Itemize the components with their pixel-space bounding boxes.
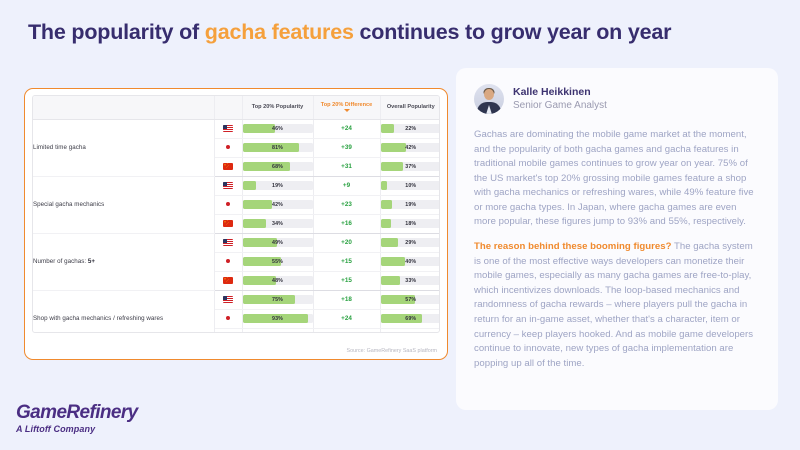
bar-top20-value: 93% (243, 314, 313, 323)
table-row: Number of gachas: 5+49%+2029% (33, 233, 440, 252)
bar-overall: 37% (381, 162, 441, 171)
bar-top20: 19% (243, 181, 313, 190)
cell-top20-difference: +24 (313, 309, 380, 328)
row-feature-label: Limited time gacha (33, 119, 214, 176)
flag-china-icon (223, 220, 233, 227)
table-row: Limited time gacha46%+2422% (33, 119, 440, 138)
bar-top20: 68% (243, 162, 313, 171)
bar-top20-value: 55% (243, 257, 313, 266)
cell-top20-popularity: 49% (242, 233, 313, 252)
cell-top20-popularity: 19% (242, 176, 313, 195)
cell-overall-popularity: 29% (380, 233, 440, 252)
author-role: Senior Game Analyst (513, 99, 607, 112)
cell-overall-popularity: 42% (380, 138, 440, 157)
cell-top20-difference: +39 (313, 138, 380, 157)
cell-top20-popularity: 46% (242, 119, 313, 138)
bar-top20-value: 46% (243, 124, 313, 133)
bar-overall-value: 33% (381, 276, 441, 285)
bar-top20: 42% (243, 200, 313, 209)
cell-overall-popularity: 37% (380, 157, 440, 176)
col-market (214, 96, 242, 119)
brand-logo: GameRefinery A Liftoff Company (16, 403, 138, 434)
cell-top20-difference: +20 (313, 233, 380, 252)
row-market-flag (214, 195, 242, 214)
brand-logo-tagline: A Liftoff Company (16, 424, 138, 434)
cell-overall-popularity: 73% (380, 328, 440, 333)
page-title: The popularity of gacha features continu… (28, 20, 772, 45)
bar-overall-value: 19% (381, 200, 441, 209)
cell-top20-difference: +31 (313, 157, 380, 176)
cell-top20-difference: +15 (313, 252, 380, 271)
row-market-flag (214, 309, 242, 328)
flag-china-icon (223, 163, 233, 170)
row-feature-label: Shop with gacha mechanics / refreshing w… (33, 290, 214, 333)
bar-top20-value: 68% (243, 162, 313, 171)
bar-overall-value: 29% (381, 238, 441, 247)
row-market-flag (214, 328, 242, 333)
table-row: Shop with gacha mechanics / refreshing w… (33, 290, 440, 309)
bar-top20: 81% (243, 143, 313, 152)
cell-overall-popularity: 57% (380, 290, 440, 309)
bar-overall-value: 37% (381, 162, 441, 171)
row-market-flag (214, 176, 242, 195)
flag-japan-icon (223, 144, 233, 151)
flag-japan-icon (223, 315, 233, 322)
cell-top20-popularity: 94% (242, 328, 313, 333)
quote-paragraph-2: The reason behind these booming figures?… (474, 240, 758, 371)
bar-top20-value: 34% (243, 219, 313, 228)
cell-top20-popularity: 42% (242, 195, 313, 214)
bar-top20: 46% (243, 124, 313, 133)
row-market-flag (214, 157, 242, 176)
cell-overall-popularity: 69% (380, 309, 440, 328)
cell-top20-popularity: 81% (242, 138, 313, 157)
cell-top20-popularity: 68% (242, 157, 313, 176)
col-overall-popularity[interactable]: Overall Popularity (380, 96, 440, 119)
bar-overall-value: 69% (381, 314, 441, 323)
row-feature-label: Number of gachas: 5+ (33, 233, 214, 290)
bar-top20-value: 81% (243, 143, 313, 152)
bar-overall: 19% (381, 200, 441, 209)
bar-overall-value: 22% (381, 124, 441, 133)
slide-root: The popularity of gacha features continu… (0, 0, 800, 450)
flag-us-icon (223, 239, 233, 246)
bar-top20-value: 49% (243, 238, 313, 247)
feature-popularity-table: Top 20% Popularity Top 20% Difference Ov… (32, 95, 440, 333)
bar-top20-value: 42% (243, 200, 313, 209)
bar-overall-value: 40% (381, 257, 441, 266)
col-top20-difference-label: Top 20% Difference (321, 102, 373, 108)
avatar (474, 84, 504, 114)
row-market-flag (214, 271, 242, 290)
table-row: Special gacha mechanics19%+910% (33, 176, 440, 195)
cell-top20-difference: +18 (313, 290, 380, 309)
cell-top20-popularity: 48% (242, 271, 313, 290)
sort-descending-icon (344, 109, 350, 112)
bar-overall: 18% (381, 219, 441, 228)
bar-overall: 69% (381, 314, 441, 323)
cell-top20-difference: +23 (313, 195, 380, 214)
cell-overall-popularity: 40% (380, 252, 440, 271)
row-market-flag (214, 214, 242, 233)
flag-us-icon (223, 182, 233, 189)
quote-body: Gachas are dominating the mobile game ma… (474, 128, 758, 371)
bar-top20-value: 75% (243, 295, 313, 304)
analyst-quote-card: Kalle Heikkinen Senior Game Analyst Gach… (456, 68, 778, 410)
cell-top20-difference: +24 (313, 119, 380, 138)
cell-overall-popularity: 19% (380, 195, 440, 214)
row-market-flag (214, 290, 242, 309)
col-top20-difference[interactable]: Top 20% Difference (313, 96, 380, 119)
cell-top20-difference: +9 (313, 176, 380, 195)
cell-top20-popularity: 75% (242, 290, 313, 309)
row-market-flag (214, 138, 242, 157)
page-title-after: continues to grow year on year (354, 20, 672, 44)
table-body: Limited time gacha46%+2422%81%+3942%68%+… (33, 119, 440, 333)
flag-japan-icon (223, 258, 233, 265)
cell-top20-popularity: 34% (242, 214, 313, 233)
bar-top20-value: 19% (243, 181, 313, 190)
flag-japan-icon (223, 201, 233, 208)
cell-top20-difference: +16 (313, 214, 380, 233)
row-market-flag (214, 233, 242, 252)
bar-overall: 57% (381, 295, 441, 304)
row-feature-label: Special gacha mechanics (33, 176, 214, 233)
quote-lead-in: The reason behind these booming figures? (474, 241, 672, 252)
chart-source: Source: GameRefinery SaaS platform (347, 348, 437, 354)
bar-top20: 48% (243, 276, 313, 285)
quote-paragraph-1: Gachas are dominating the mobile game ma… (474, 128, 758, 230)
bar-overall-value: 57% (381, 295, 441, 304)
bar-top20-value: 48% (243, 276, 313, 285)
page-title-highlight: gacha features (205, 20, 354, 44)
row-market-flag (214, 119, 242, 138)
cell-overall-popularity: 33% (380, 271, 440, 290)
flag-us-icon (223, 125, 233, 132)
bar-overall: 29% (381, 238, 441, 247)
cell-overall-popularity: 10% (380, 176, 440, 195)
bar-top20: 49% (243, 238, 313, 247)
bar-overall: 33% (381, 276, 441, 285)
bar-overall: 22% (381, 124, 441, 133)
bar-overall: 42% (381, 143, 441, 152)
bar-overall-value: 10% (381, 181, 441, 190)
bar-top20: 34% (243, 219, 313, 228)
page-title-before: The popularity of (28, 20, 205, 44)
bar-overall-value: 18% (381, 219, 441, 228)
brand-logo-name: GameRefinery (16, 403, 138, 423)
bar-top20: 55% (243, 257, 313, 266)
bar-overall-value: 42% (381, 143, 441, 152)
flag-us-icon (223, 296, 233, 303)
col-feature (33, 96, 214, 119)
cell-top20-difference: +21 (313, 328, 380, 333)
author-name: Kalle Heikkinen (513, 86, 607, 100)
cell-overall-popularity: 22% (380, 119, 440, 138)
col-top20-popularity[interactable]: Top 20% Popularity (242, 96, 313, 119)
cell-top20-difference: +15 (313, 271, 380, 290)
row-market-flag (214, 252, 242, 271)
bar-overall: 10% (381, 181, 441, 190)
flag-china-icon (223, 277, 233, 284)
chart-card: Top 20% Popularity Top 20% Difference Ov… (24, 88, 448, 360)
author-block: Kalle Heikkinen Senior Game Analyst (474, 84, 758, 114)
cell-top20-popularity: 93% (242, 309, 313, 328)
table-header: Top 20% Popularity Top 20% Difference Ov… (33, 96, 440, 119)
bar-top20: 75% (243, 295, 313, 304)
bar-top20: 93% (243, 314, 313, 323)
cell-overall-popularity: 18% (380, 214, 440, 233)
cell-top20-popularity: 55% (242, 252, 313, 271)
bar-overall: 40% (381, 257, 441, 266)
quote-paragraph-2-text: The gacha system is one of the most effe… (474, 241, 753, 369)
